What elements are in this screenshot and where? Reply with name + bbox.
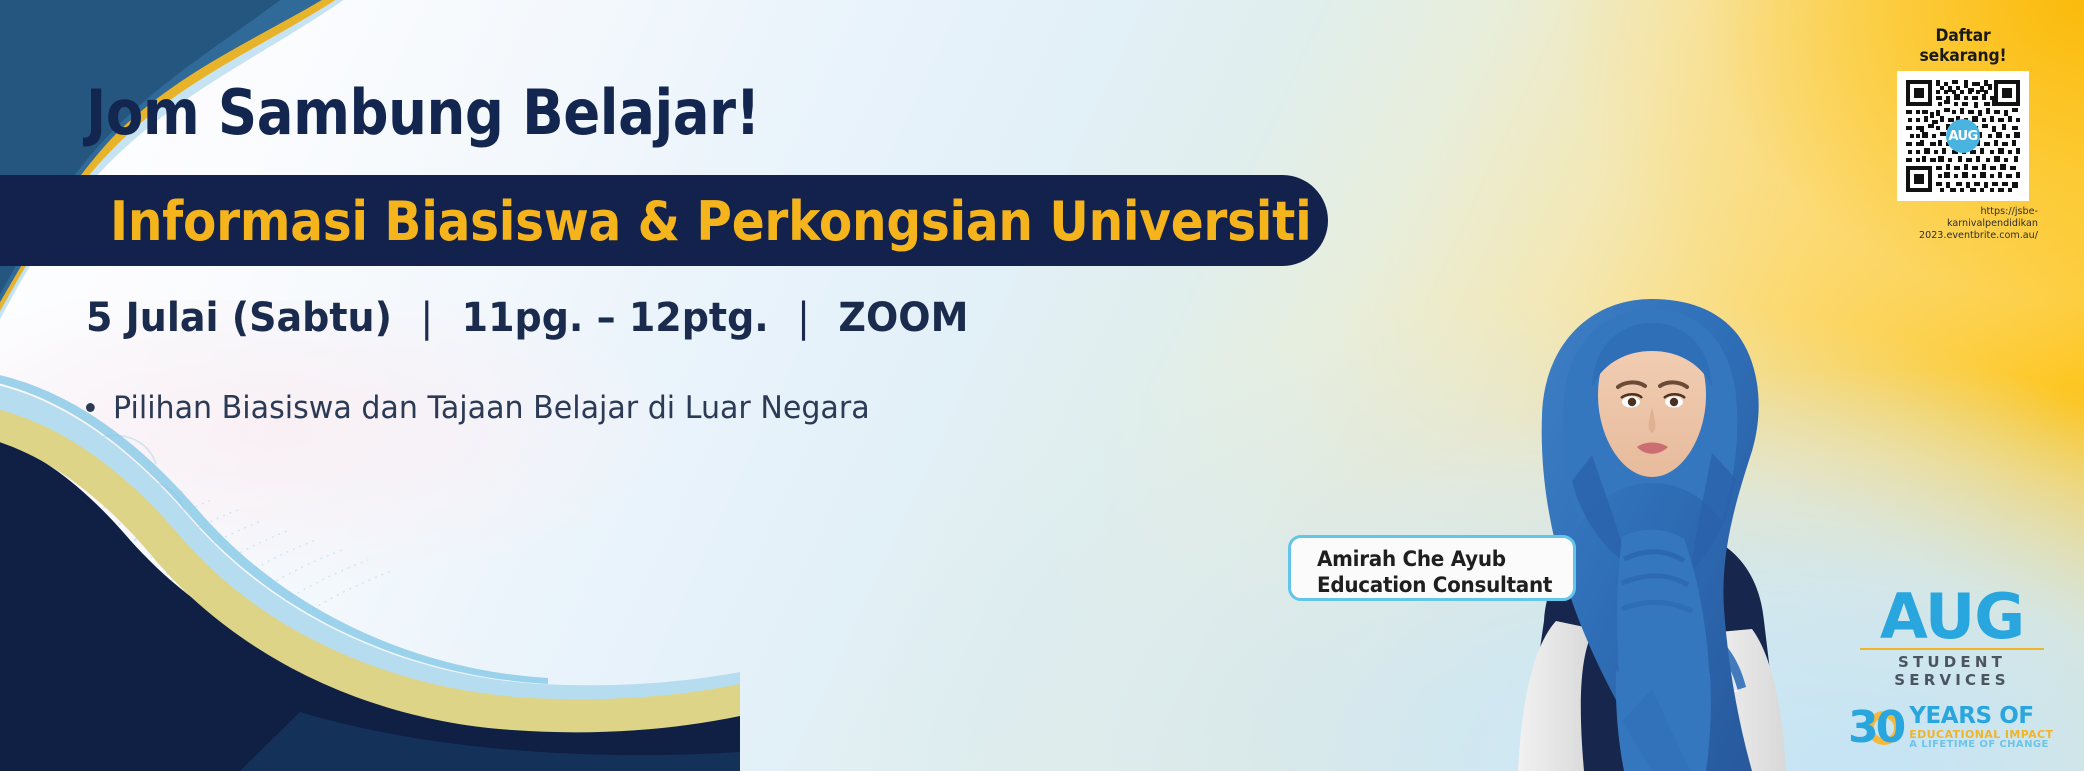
speaker-name: Amirah Che Ayub [1317,547,1560,573]
anniversary-badge: 30 YEARS OF EDUCATIONAL IMPACT A LIFETIM… [1848,697,2056,759]
page-title: Jom Sambung Belajar! [86,82,760,144]
speaker-name-card: Amirah Che Ayub Education Consultant [1288,535,1576,601]
registration-block[interactable]: Daftar sekarang! [1888,26,2038,241]
promo-banner: Jom Sambung Belajar! Informasi Biasiswa … [0,0,2084,771]
anniversary-number: 30 [1848,706,1903,750]
registration-url[interactable]: https://jsbe-karnivalpendidikan 2023.eve… [1894,206,2038,241]
aug-logo-tagline: STUDENT SERVICES [1856,653,2048,689]
schedule-separator-1: | [405,295,448,341]
registration-url-line2: 2023.eventbrite.com.au/ [1894,230,2038,242]
anniversary-text: YEARS OF EDUCATIONAL IMPACT A LIFETIME O… [1909,705,2053,751]
background-haze [0,300,900,630]
bullet-dot-icon [86,403,95,412]
list-item-label: Pilihan Biasiswa dan Tajaan Belajar di L… [113,390,870,426]
schedule-platform: ZOOM [838,295,968,341]
schedule-time: 11pg. – 12ptg. [462,295,769,341]
anniversary-line1: YEARS OF [1909,705,2053,729]
schedule-separator-2: | [782,295,825,341]
qr-code-icon[interactable]: AUG [1897,71,2029,201]
registration-url-line1: https://jsbe-karnivalpendidikan [1894,206,2038,230]
aug-logo: AUG STUDENT SERVICES [1856,591,2048,689]
list-item: Pilihan Biasiswa dan Tajaan Belajar di L… [86,390,870,426]
anniversary-line3: A LIFETIME OF CHANGE [1909,740,2053,750]
qr-center-logo: AUG [1946,119,1980,153]
speaker-role: Education Consultant [1317,573,1560,599]
aug-wordmark: AUG [1856,591,2048,644]
anniversary-number-label: 30 [1848,702,1903,753]
schedule-date: 5 Julai (Sabtu) [86,295,392,341]
speaker-portrait-icon [1452,291,1852,771]
register-cta-label: Daftar sekarang! [1894,26,2032,66]
schedule-line: 5 Julai (Sabtu) | 11pg. – 12ptg. | ZOOM [86,295,968,341]
subtitle-text: Informasi Biasiswa & Perkongsian Univers… [110,184,1312,258]
